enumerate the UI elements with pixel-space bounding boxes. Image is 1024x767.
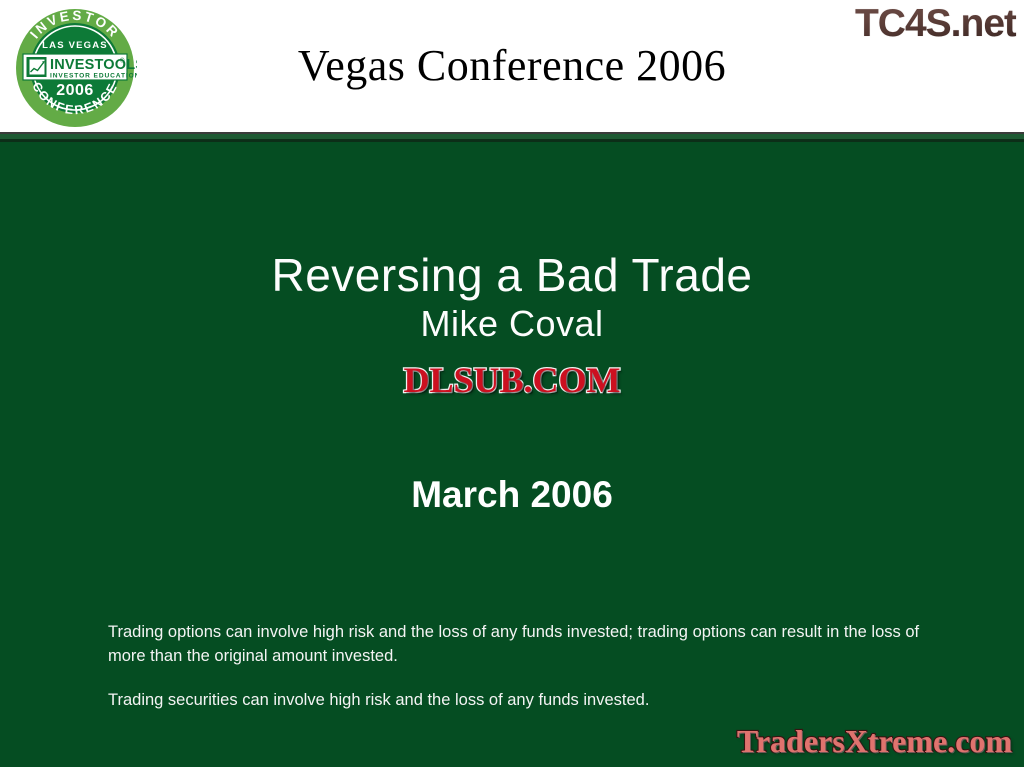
watermark-tc4s: TC4S.net [855, 2, 1016, 46]
slide-body: Reversing a Bad Trade Mike Coval DLSUB.C… [0, 142, 1024, 767]
slide-header: INVESTOR CONFERENCE LAS VEGAS INVESTOOLS… [0, 0, 1024, 134]
page-title: Vegas Conference 2006 [0, 38, 1024, 94]
deck-date: March 2006 [0, 472, 1024, 518]
watermark-tradersxtreme: TradersXtreme.com [737, 721, 1012, 761]
watermark-tradersxtreme-text: TradersXtreme.com [737, 721, 1012, 761]
watermark-dlsub: DLSUB.COM [0, 360, 1024, 400]
presentation-slide: INVESTOR CONFERENCE LAS VEGAS INVESTOOLS… [0, 0, 1024, 767]
deck-title: Reversing a Bad Trade [0, 247, 1024, 303]
deck-author: Mike Coval [0, 302, 1024, 346]
disclaimer-securities: Trading securities can involve high risk… [108, 688, 928, 712]
disclaimer-options: Trading options can involve high risk an… [108, 620, 928, 668]
watermark-dlsub-text: DLSUB.COM [403, 360, 620, 400]
